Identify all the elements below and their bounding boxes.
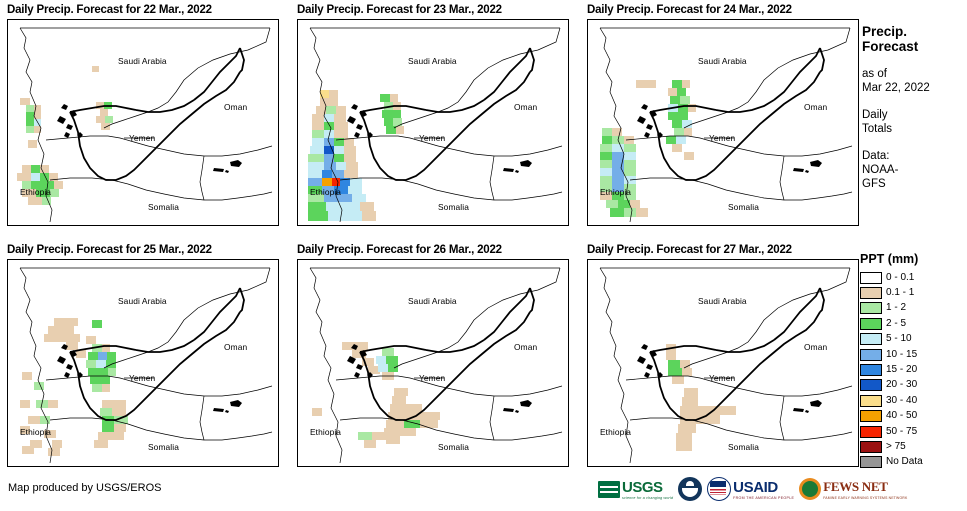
usaid-logo[interactable]: USAID FROM THE AMERICAN PEOPLE (707, 475, 794, 503)
info-asof-label: as of (862, 67, 967, 81)
legend-swatch-20-30 (860, 379, 882, 391)
country-label-oman: Oman (804, 342, 827, 352)
legend-swatch-0.1-1 (860, 287, 882, 299)
info-data-label: Data: (862, 149, 967, 163)
legend-label-12: No Data (886, 456, 923, 468)
info-panel-title: Precip. Forecast (862, 24, 967, 54)
legend-swatch-30-40 (860, 395, 882, 407)
country-label-yemen: Yemen (709, 133, 735, 143)
map-frame[interactable]: Saudi Arabia Oman Yemen Ethiopia Somalia (7, 19, 279, 226)
legend-item-2: 1 - 2 (860, 301, 967, 316)
map-credit: Map produced by USGS/EROS (8, 482, 161, 494)
country-label-ethiopia: Ethiopia (600, 187, 631, 197)
legend-label-9: 40 - 50 (886, 410, 917, 422)
map-canvas: Saudi Arabia Oman Yemen Ethiopia Somalia (8, 20, 278, 225)
map-canvas: Saudi Arabia Oman Yemen Ethiopia Somalia (8, 260, 278, 466)
country-label-saudi-arabia: Saudi Arabia (118, 296, 167, 306)
country-label-oman: Oman (514, 102, 537, 112)
legend-label-1: 0.1 - 1 (886, 287, 914, 299)
usgs-logo-tagline: science for a changing world (622, 496, 673, 500)
info-asof-date: Mar 22, 2022 (862, 81, 967, 95)
usgs-mark-icon (598, 481, 620, 498)
country-label-yemen: Yemen (129, 373, 155, 383)
map-frame[interactable]: Saudi Arabia Oman Yemen Ethiopia Somalia (297, 19, 569, 226)
info-asof: as of Mar 22, 2022 (862, 67, 967, 95)
agency-logo-bar: USGS science for a changing world USAID … (598, 474, 907, 504)
legend-item-9: 40 - 50 (860, 409, 967, 424)
legend-swatch-15-20 (860, 364, 882, 376)
fews-logo-text: FEWS NET (823, 479, 887, 494)
map-frame[interactable]: Saudi Arabia Oman Yemen Ethiopia Somalia (7, 259, 279, 467)
legend-swatch-0-0.1 (860, 272, 882, 284)
panel-title: Daily Precip. Forecast for 25 Mar., 2022 (7, 243, 212, 257)
panel-title: Daily Precip. Forecast for 26 Mar., 2022 (297, 243, 502, 257)
country-label-ethiopia: Ethiopia (20, 427, 51, 437)
country-label-ethiopia: Ethiopia (310, 187, 341, 197)
legend-swatch-50-75 (860, 426, 882, 438)
legend-item-5: 10 - 15 (860, 347, 967, 362)
country-label-oman: Oman (804, 102, 827, 112)
country-label-yemen: Yemen (419, 373, 445, 383)
info-totals: Daily Totals (862, 108, 967, 136)
map-canvas: Saudi Arabia Oman Yemen Ethiopia Somalia (298, 20, 568, 225)
legend-swatch-2-5 (860, 318, 882, 330)
info-data-source: Data: NOAA- GFS (862, 149, 967, 191)
fews-globe-icon (799, 478, 821, 500)
noaa-logo[interactable] (678, 475, 702, 503)
map-frame[interactable]: Saudi Arabia Oman Yemen Ethiopia Somalia (587, 19, 859, 226)
info-data-source-line-2: GFS (862, 177, 967, 191)
info-title-line-1: Precip. (862, 24, 967, 39)
country-label-oman: Oman (224, 102, 247, 112)
usgs-logo-text: USGS (622, 479, 663, 496)
usaid-seal-icon (707, 477, 731, 501)
country-label-yemen: Yemen (129, 133, 155, 143)
country-label-somalia: Somalia (438, 202, 469, 212)
legend-item-11: > 75 (860, 439, 967, 454)
country-label-somalia: Somalia (148, 202, 179, 212)
country-label-somalia: Somalia (438, 442, 469, 452)
panel-title: Daily Precip. Forecast for 24 Mar., 2022 (587, 3, 792, 17)
legend-item-12: No Data (860, 455, 967, 470)
legend-swatch-gt-75 (860, 441, 882, 453)
legend-label-10: 50 - 75 (886, 426, 917, 438)
legend-label-4: 5 - 10 (886, 333, 912, 345)
legend-label-6: 15 - 20 (886, 364, 917, 376)
country-label-saudi-arabia: Saudi Arabia (698, 56, 747, 66)
country-borders (650, 288, 824, 420)
noaa-seal-icon (678, 477, 702, 501)
info-title-line-2: Forecast (862, 39, 967, 54)
country-label-saudi-arabia: Saudi Arabia (408, 296, 457, 306)
fews-net-logo[interactable]: FEWS NET FAMINE EARLY WARNING SYSTEMS NE… (799, 475, 907, 503)
legend-label-3: 2 - 5 (886, 318, 906, 330)
legend-label-11: > 75 (886, 441, 906, 453)
map-canvas: Saudi Arabia Oman Yemen Ethiopia Somalia (588, 260, 858, 466)
panel-title: Daily Precip. Forecast for 22 Mar., 2022 (7, 3, 212, 17)
legend: PPT (mm) 0 - 0.1 0.1 - 1 1 - 2 2 - 5 5 -… (860, 252, 967, 470)
legend-item-10: 50 - 75 (860, 424, 967, 439)
country-label-ethiopia: Ethiopia (310, 427, 341, 437)
usaid-logo-text: USAID (733, 479, 778, 496)
fews-logo-tagline: FAMINE EARLY WARNING SYSTEMS NETWORK (823, 496, 907, 500)
legend-item-3: 2 - 5 (860, 316, 967, 331)
legend-swatch-1-2 (860, 302, 882, 314)
legend-item-0: 0 - 0.1 (860, 270, 967, 285)
country-label-somalia: Somalia (728, 442, 759, 452)
country-label-saudi-arabia: Saudi Arabia (698, 296, 747, 306)
legend-item-7: 20 - 30 (860, 378, 967, 393)
info-panel: Precip. Forecast as of Mar 22, 2022 Dail… (862, 24, 967, 191)
country-label-yemen: Yemen (419, 133, 445, 143)
map-canvas: Saudi Arabia Oman Yemen Ethiopia Somalia (588, 20, 858, 225)
legend-label-2: 1 - 2 (886, 302, 906, 314)
country-label-somalia: Somalia (148, 442, 179, 452)
map-canvas: Saudi Arabia Oman Yemen Ethiopia Somalia (298, 260, 568, 466)
panel-title: Daily Precip. Forecast for 27 Mar., 2022 (587, 243, 792, 257)
legend-swatch-40-50 (860, 410, 882, 422)
country-label-oman: Oman (514, 342, 537, 352)
country-label-saudi-arabia: Saudi Arabia (118, 56, 167, 66)
legend-swatch-10-15 (860, 349, 882, 361)
usaid-logo-tagline: FROM THE AMERICAN PEOPLE (733, 496, 794, 500)
country-label-oman: Oman (224, 342, 247, 352)
legend-item-4: 5 - 10 (860, 332, 967, 347)
legend-swatch-no-data (860, 456, 882, 468)
country-label-somalia: Somalia (728, 202, 759, 212)
country-label-ethiopia: Ethiopia (20, 187, 51, 197)
legend-swatch-5-10 (860, 333, 882, 345)
legend-item-8: 30 - 40 (860, 393, 967, 408)
country-label-saudi-arabia: Saudi Arabia (408, 56, 457, 66)
legend-label-7: 20 - 30 (886, 379, 917, 391)
country-label-yemen: Yemen (709, 373, 735, 383)
legend-item-6: 15 - 20 (860, 362, 967, 377)
info-data-source-line-1: NOAA- (862, 163, 967, 177)
legend-item-1: 0.1 - 1 (860, 285, 967, 300)
legend-label-5: 10 - 15 (886, 349, 917, 361)
info-totals-line-1: Daily (862, 108, 967, 122)
country-label-ethiopia: Ethiopia (600, 427, 631, 437)
map-frame[interactable]: Saudi Arabia Oman Yemen Ethiopia Somalia (297, 259, 569, 467)
legend-label-0: 0 - 0.1 (886, 272, 914, 284)
panel-title: Daily Precip. Forecast for 23 Mar., 2022 (297, 3, 502, 17)
legend-label-8: 30 - 40 (886, 395, 917, 407)
map-frame[interactable]: Saudi Arabia Oman Yemen Ethiopia Somalia (587, 259, 859, 467)
legend-title: PPT (mm) (860, 252, 967, 266)
usgs-logo[interactable]: USGS science for a changing world (598, 475, 673, 503)
info-totals-line-2: Totals (862, 122, 967, 136)
